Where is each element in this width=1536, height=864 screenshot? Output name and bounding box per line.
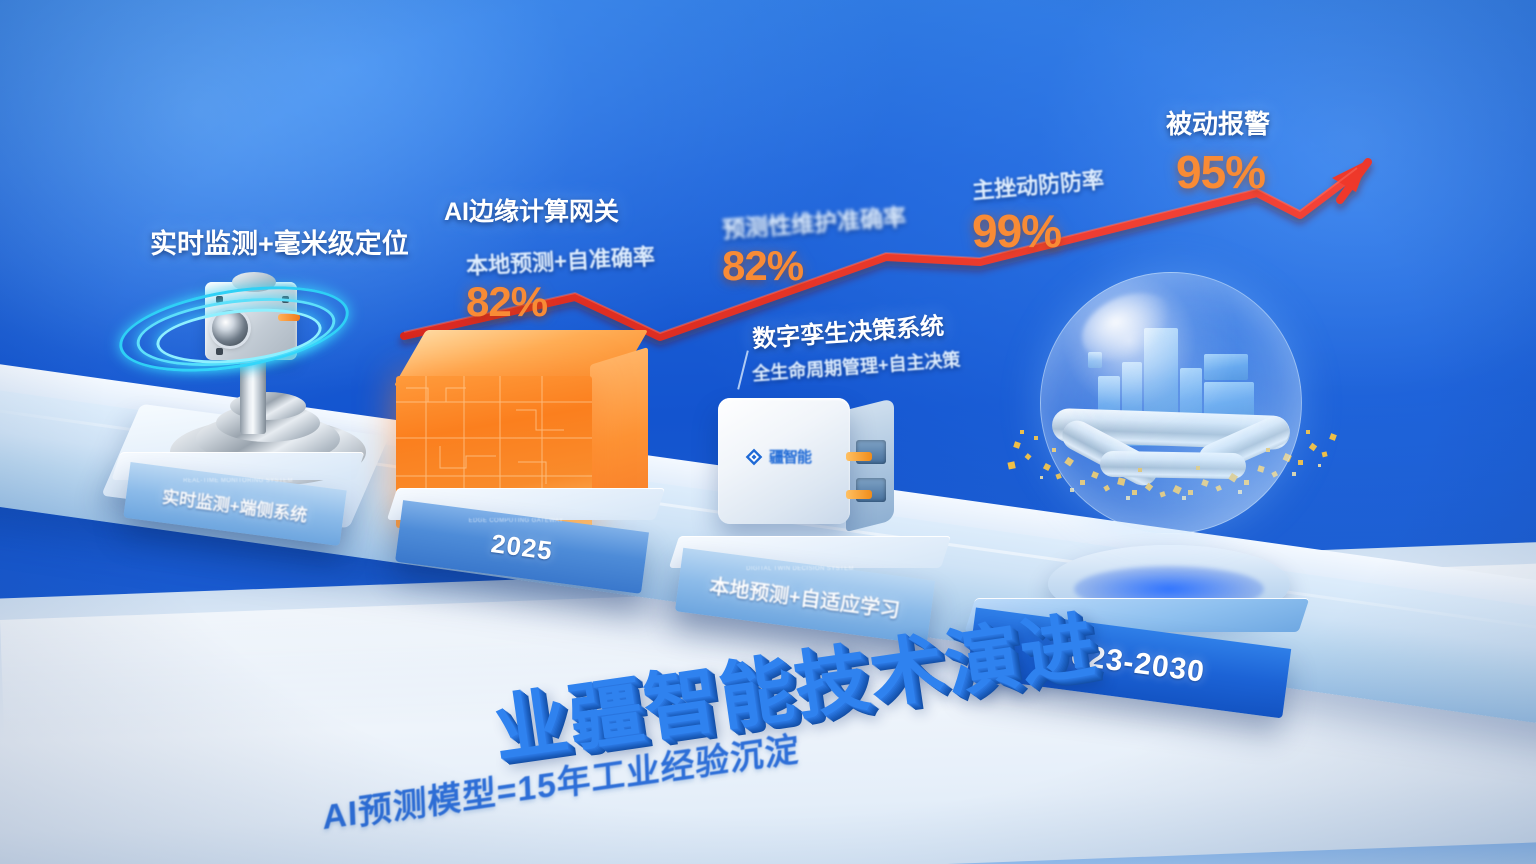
pedestal-1: 实时监测+端侧系统 REAL-TIME MONITORING SYSTEM <box>112 452 364 548</box>
pedestal-2-micro-text: EDGE COMPUTING GATEWAY <box>469 518 564 524</box>
callout-1-title: 实时监测+毫米级定位 <box>150 222 409 261</box>
callout-3: 数字孪生决策系统 全生命周期管理+自主决策 <box>752 312 961 379</box>
gateway-power-plug <box>846 490 872 499</box>
pedestal-2: 2025 EDGE COMPUTING GATEWAY <box>386 488 664 598</box>
callout-4: 预测性维护准确率 82% <box>722 204 906 290</box>
callout-5: 主挫动防防率 99% <box>972 168 1104 258</box>
pedestal-3-label: 本地预测+自适应学习 <box>708 569 902 623</box>
callout-2: AI边缘计算网关 本地预测+自准确率 82% <box>444 192 655 326</box>
gateway-brand-text: 疆智能 <box>769 446 811 467</box>
pedestal-1-micro-text: REAL-TIME MONITORING SYSTEM <box>183 478 293 484</box>
callout-2-title: AI边缘计算网关 <box>444 192 655 228</box>
diamond-logo-icon <box>744 447 764 467</box>
callout-6: 被动报警 95% <box>1166 104 1270 199</box>
gateway-power-plug <box>846 452 872 461</box>
callout-2-subtitle: 本地预测+自准确率 <box>465 239 655 281</box>
gateway-side-panel <box>846 398 894 532</box>
pedestal-3-micro-text: DIGITAL TWIN DECISION SYSTEM <box>746 566 854 572</box>
callout-4-percent: 82% <box>722 242 906 290</box>
callout-4-title: 预测性维护准确率 <box>721 198 907 245</box>
callout-5-percent: 99% <box>972 204 1104 258</box>
callout-5-title: 主挫动防防率 <box>971 162 1105 205</box>
pedestal-2-label: 2025 <box>489 528 554 567</box>
gateway-brand-logo: 疆智能 <box>744 446 811 467</box>
infographic-stage: 实时监测+端侧系统 REAL-TIME MONITORING SYSTEM 20… <box>0 0 1536 864</box>
pedestal-1-label: 实时监测+端侧系统 <box>161 482 309 526</box>
callout-6-percent: 95% <box>1176 145 1270 199</box>
sensor-post <box>240 356 266 434</box>
callout-1: 实时监测+毫米级定位 <box>150 222 409 261</box>
callout-6-title: 被动报警 <box>1166 104 1270 141</box>
callout-2-percent: 82% <box>466 278 655 326</box>
